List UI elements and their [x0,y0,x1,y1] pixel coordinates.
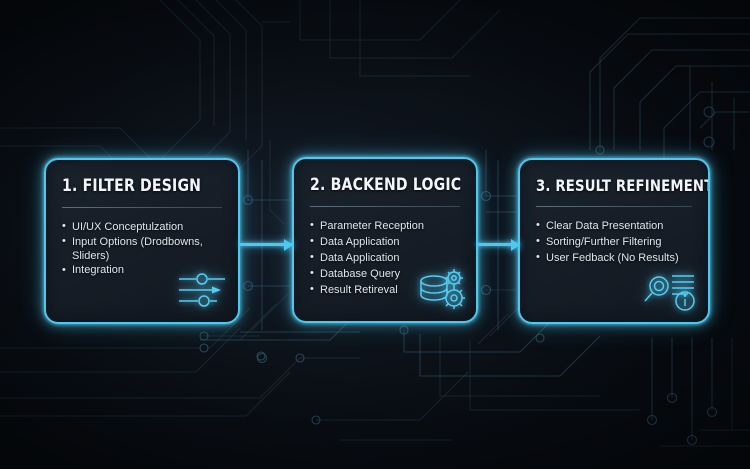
search-info-icon [642,268,702,316]
list-item: Integration [62,263,222,277]
list-item: Input Options (Drodbowns, Sliders) [62,235,222,263]
list-item: Parameter Reception [310,219,460,235]
list-item: UI/UX Conceptulzation [62,220,222,234]
list-item: Database Query [310,267,460,283]
card-filter-design[interactable]: 1. FILTER DESIGN UI/UX Conceptulzation I… [44,158,240,324]
card-title: 3. RESULT REFINEMENT [536,178,680,195]
card-bullet-list: UI/UX Conceptulzation Input Options (Dro… [62,220,222,278]
card-title: 1. FILTER DESIGN [62,178,209,196]
card-bullet-list: Clear Data Presentation Sorting/Further … [536,219,692,267]
slide-canvas: 1. FILTER DESIGN UI/UX Conceptulzation I… [0,0,750,469]
arrow-card1-to-card2 [240,243,292,246]
list-item: Clear Data Presentation [536,219,692,235]
card-divider [62,207,222,208]
list-item: Data Application [310,235,460,251]
arrow-head-icon [284,239,293,251]
list-item: Sorting/Further Filtering [536,235,692,251]
card-bullet-list: Parameter Reception Data Application Dat… [310,219,460,299]
card-result-refinement[interactable]: 3. RESULT REFINEMENT Clear Data Presenta… [518,158,710,324]
card-backend-logic[interactable]: 2. BACKEND LOGIC Parameter Reception Dat… [292,157,478,323]
card-divider [310,206,460,207]
list-item: Data Application [310,251,460,267]
list-item: Result Retireval [310,283,460,299]
list-item: User Fedback (No Results) [536,251,692,267]
card-title: 2. BACKEND LOGIC [310,177,448,195]
arrow-card2-to-card3 [477,243,519,246]
card-divider [536,206,692,207]
arrow-head-icon [511,239,520,251]
